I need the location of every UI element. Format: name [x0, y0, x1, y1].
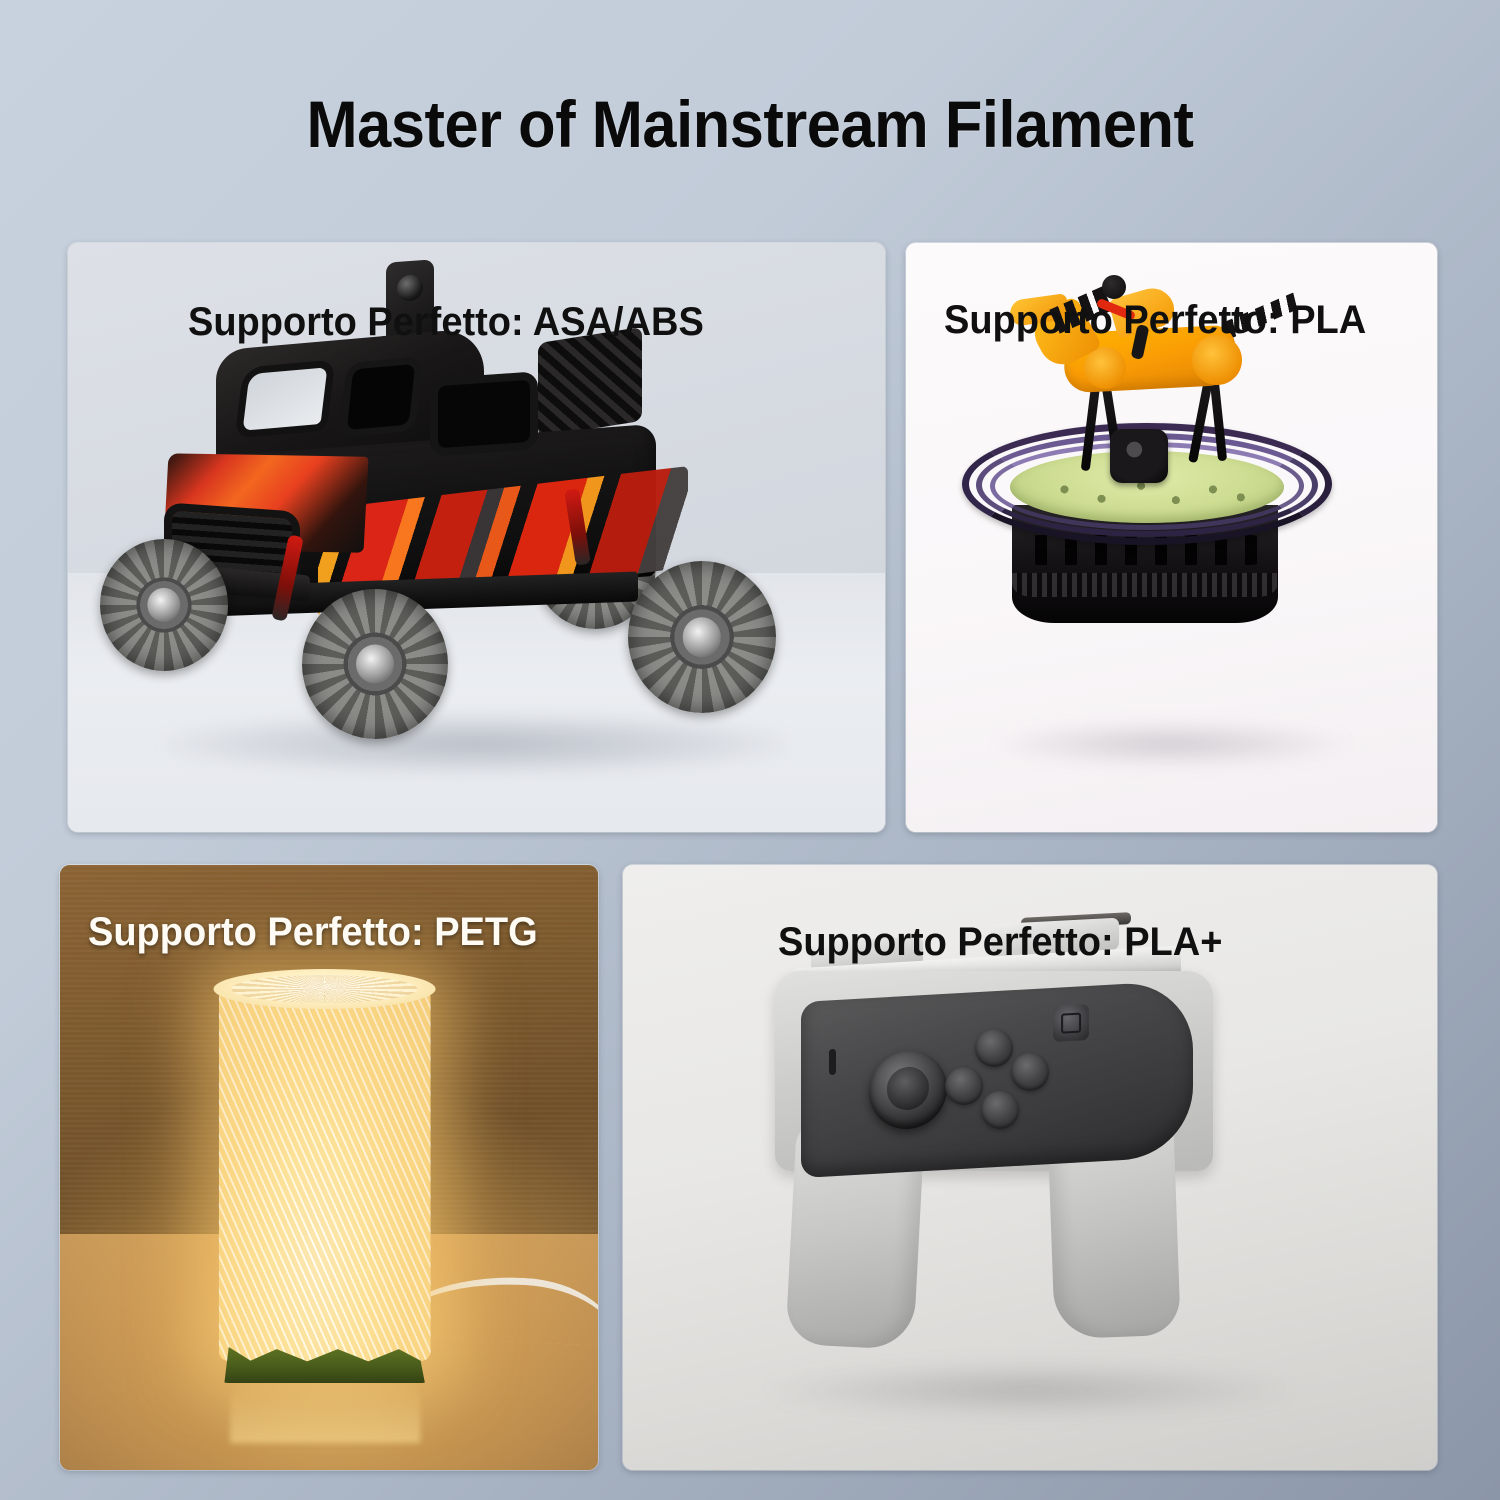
rider-head	[1102, 275, 1126, 299]
card-label-petg: Supporto Perfetto: PETG	[88, 910, 538, 955]
automaton-base-gear-teeth	[1012, 573, 1278, 597]
product-card-grid: Supporto Perfetto: ASA/ABS	[0, 0, 1500, 1500]
photo-spiral-vase-lamp	[60, 865, 598, 1470]
horse-shoulder-joint	[1084, 347, 1126, 389]
truck-wheel-rear-right	[628, 561, 776, 713]
card-label-asa-abs: Supporto Perfetto: ASA/ABS	[188, 300, 704, 345]
joycon-button-down	[981, 1091, 1019, 1129]
card-petg[interactable]: Supporto Perfetto: PETG	[60, 865, 598, 1470]
card-pla-plus[interactable]: Supporto Perfetto: PLA+	[623, 865, 1437, 1470]
automaton-center-gear	[1110, 429, 1168, 483]
card-label-pla-plus: Supporto Perfetto: PLA+	[778, 920, 1222, 965]
card-label-pla: Supporto Perfetto: PLA	[944, 298, 1366, 343]
truck-side-window	[243, 367, 328, 430]
automaton-shadow	[991, 722, 1352, 766]
truck-shadow	[166, 714, 787, 774]
truck-wheel-front-left	[100, 539, 228, 671]
joycon-sr-indicator	[829, 1049, 836, 1075]
joycon-button-right	[1011, 1053, 1049, 1091]
truck-wheel-front-right	[302, 589, 448, 739]
lamp-shade	[219, 981, 431, 1361]
truck-bed-opening	[438, 380, 530, 448]
card-asa-abs[interactable]: Supporto Perfetto: ASA/ABS	[68, 243, 885, 832]
lamp-top-rim	[214, 969, 436, 1009]
joycon-capture-button	[1053, 1004, 1089, 1042]
lamp-desk-reflection	[230, 1381, 420, 1443]
joycon-button-left	[945, 1067, 983, 1105]
joycon-controller	[801, 980, 1193, 1178]
truck-rear-window	[347, 364, 415, 430]
grip-shadow	[770, 1364, 1291, 1416]
card-pla[interactable]: Supporto Perfetto: PLA	[906, 243, 1437, 832]
joycon-button-up	[975, 1029, 1013, 1067]
